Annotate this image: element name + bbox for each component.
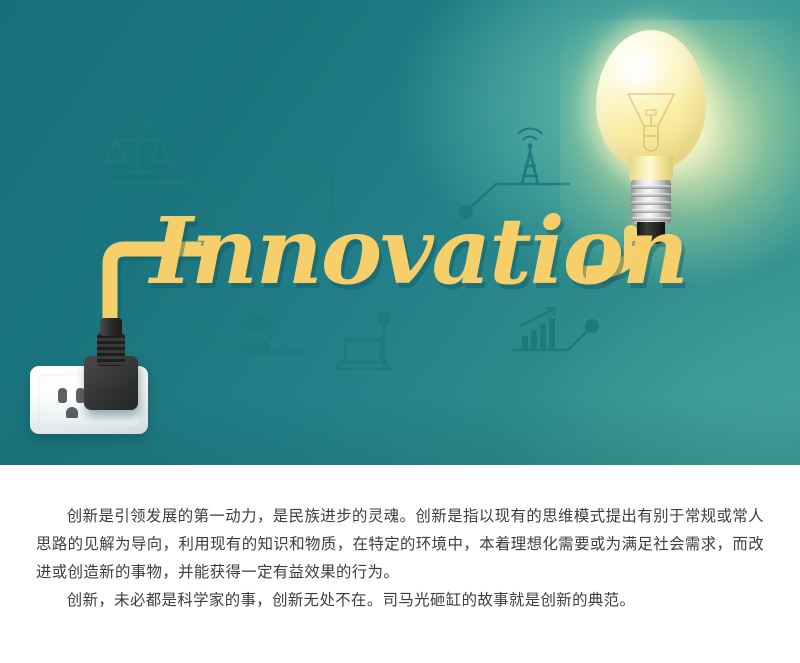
page-root: Innovation 创新是引领发展的第一动力，是民族进步的灵魂。创新是指以现有…	[0, 0, 800, 663]
article-paragraph-1: 创新是引领发展的第一动力，是民族进步的灵魂。创新是指以现有的思维模式提出有别于常…	[36, 503, 764, 587]
article-body: 创新是引领发展的第一动力，是民族进步的灵魂。创新是指以现有的思维模式提出有别于常…	[0, 465, 800, 663]
scales-icon	[106, 118, 170, 172]
hero-banner: Innovation	[0, 0, 800, 465]
headline-innovation: Innovation	[150, 196, 620, 306]
radio-tower-icon	[518, 129, 542, 184]
outlet-slot-ground	[66, 407, 78, 418]
growth-chart-icon	[520, 308, 555, 350]
article-paragraph-2: 创新，未必都是科学家的事，创新无处不在。司马光砸缸的故事就是创新的典范。	[36, 587, 764, 615]
power-plug-neck	[97, 332, 125, 366]
power-plug-shaft	[100, 318, 122, 336]
graduate-icon	[238, 313, 274, 354]
laptop-icon	[336, 340, 390, 369]
gears-icon	[281, 159, 324, 198]
outlet-slot-left	[58, 388, 67, 403]
